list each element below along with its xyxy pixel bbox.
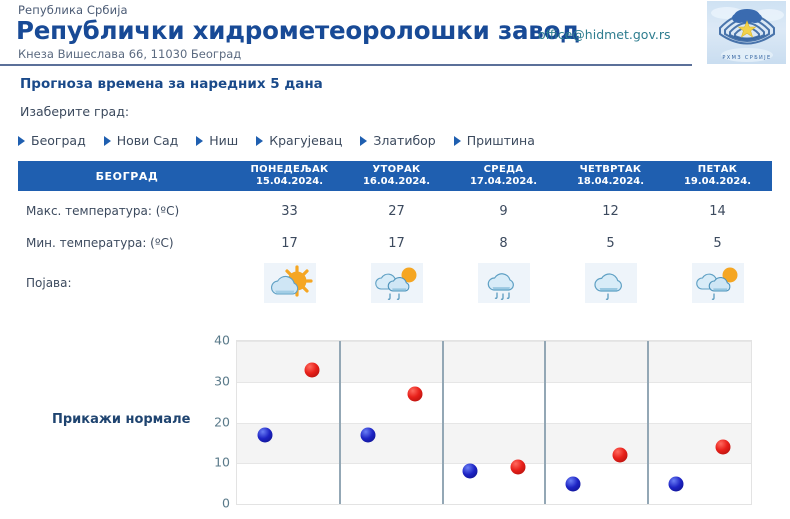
day-date: 18.04.2024. (557, 176, 664, 188)
max-temp-day-4: 12 (557, 204, 664, 219)
row-label-phenomenon: Појава: (18, 276, 236, 290)
chart-day-divider (544, 341, 546, 504)
min-temp-day-1: 17 (236, 236, 343, 251)
rain-drops (712, 294, 714, 299)
table-city-header: БЕОГРАД (18, 170, 236, 183)
y-axis-tick-label: 10 (196, 455, 230, 470)
table-day-header-3: СРЕДА 17.04.2024. (450, 164, 557, 188)
phenomenon-cell-4 (557, 263, 664, 303)
page-title: Прогноза времена за наредних 5 дана (20, 76, 323, 92)
day-date: 17.04.2024. (450, 176, 557, 188)
phenomenon-cell-5 (664, 263, 771, 303)
chart-point-min-temp (360, 427, 375, 442)
chart-point-min-temp (257, 427, 272, 442)
sun-behind-cloud-light-rain-icon (371, 263, 423, 303)
temperature-scatter-chart: 010203040 (196, 330, 756, 519)
chart-point-min-temp (566, 476, 581, 491)
city-label: Златибор (373, 133, 435, 148)
city-selector: Београд Нови Сад Ниш Крагујевац Златибор… (18, 133, 553, 148)
city-label: Крагујевац (269, 133, 342, 148)
day-date: 19.04.2024. (664, 176, 771, 188)
city-link-kragujevac[interactable]: Крагујевац (256, 133, 342, 148)
day-name: ПОНЕДЕЉАК (236, 164, 343, 176)
min-temp-day-3: 8 (450, 236, 557, 251)
min-temp-day-2: 17 (343, 236, 450, 251)
triangle-right-icon (196, 136, 203, 146)
show-normals-link[interactable]: Прикажи нормале (52, 412, 190, 427)
chart-point-max-temp (407, 386, 422, 401)
city-link-nis[interactable]: Ниш (196, 133, 238, 148)
city-label: Нови Сад (117, 133, 179, 148)
forecast-page: Република Србија Републички хидрометеоро… (0, 0, 790, 519)
chart-point-max-temp (716, 439, 731, 454)
chart-point-max-temp (510, 460, 525, 475)
city-link-zlatibor[interactable]: Златибор (360, 133, 435, 148)
triangle-right-icon (360, 136, 367, 146)
sun-behind-cloud-light-rain-svg (371, 263, 423, 303)
rain-drops (606, 294, 608, 299)
day-date: 16.04.2024. (343, 176, 450, 188)
sun-behind-cloud-light-rain-icon (692, 263, 744, 303)
svg-text:РХМЗ СРБИЈЕ: РХМЗ СРБИЈЕ (722, 55, 771, 61)
choose-city-label: Изаберите град: (20, 104, 129, 119)
table-row-phenomenon: Појава: (18, 260, 772, 306)
max-temp-day-5: 14 (664, 204, 771, 219)
chart-band (237, 423, 751, 464)
y-axis-tick-label: 20 (196, 414, 230, 429)
cloud-rain-svg (478, 263, 530, 303)
cloud-rain-icon (478, 263, 530, 303)
table-day-header-5: ПЕТАК 19.04.2024. (664, 164, 771, 188)
chart-gridline (237, 463, 751, 464)
phenomenon-cell-1 (236, 263, 343, 303)
forecast-table-header: БЕОГРАД ПОНЕДЕЉАК 15.04.2024. УТОРАК 16.… (18, 161, 772, 191)
header-divider (0, 64, 692, 66)
chart-point-max-temp (613, 448, 628, 463)
chart-gridline (237, 423, 751, 424)
triangle-right-icon (256, 136, 263, 146)
city-link-pristina[interactable]: Приштина (454, 133, 535, 148)
chart-point-max-temp (305, 362, 320, 377)
max-temp-day-1: 33 (236, 204, 343, 219)
chart-gridline (237, 382, 751, 383)
phenomenon-cell-2 (343, 263, 450, 303)
city-label: Приштина (467, 133, 535, 148)
min-temp-day-5: 5 (664, 236, 771, 251)
day-name: ПЕТАК (664, 164, 771, 176)
max-temp-day-2: 27 (343, 204, 450, 219)
row-label-min-temp: Мин. температура: (ºC) (18, 236, 236, 250)
chart-point-min-temp (463, 464, 478, 479)
rain-drops (495, 293, 509, 299)
triangle-right-icon (104, 136, 111, 146)
chart-day-divider (647, 341, 649, 504)
cloud-glyph (594, 274, 620, 291)
day-name: УТОРАК (343, 164, 450, 176)
y-axis-tick-label: 0 (196, 496, 230, 511)
day-name: СРЕДА (450, 164, 557, 176)
site-address: Кнеза Вишеслава 66, 11030 Београд (18, 47, 241, 61)
day-name: ЧЕТВРТАК (557, 164, 664, 176)
city-label: Београд (31, 133, 86, 148)
day-date: 15.04.2024. (236, 176, 343, 188)
rhmz-emblem-svg: РХМЗ СРБИЈЕ (707, 1, 786, 64)
chart-gridline (237, 341, 751, 342)
y-axis-tick-label: 30 (196, 373, 230, 388)
contact-email-link[interactable]: office@hidmet.gov.rs (538, 27, 671, 42)
table-day-header-1: ПОНЕДЕЉАК 15.04.2024. (236, 164, 343, 188)
chart-day-divider (339, 341, 341, 504)
table-row-max-temp: Макс. температура: (ºC) 33 27 9 12 14 (18, 199, 772, 223)
city-link-beograd[interactable]: Београд (18, 133, 86, 148)
city-link-novi-sad[interactable]: Нови Сад (104, 133, 179, 148)
min-temp-day-4: 5 (557, 236, 664, 251)
chart-point-min-temp (668, 476, 683, 491)
rhmz-logo-icon: РХМЗ СРБИЈЕ (707, 1, 786, 64)
chart-plot-area (236, 340, 752, 505)
phenomenon-cell-3 (450, 263, 557, 303)
triangle-right-icon (454, 136, 461, 146)
table-day-header-4: ЧЕТВРТАК 18.04.2024. (557, 164, 664, 188)
site-title: Републички хидрометеоролошки завод (16, 16, 580, 45)
triangle-right-icon (18, 136, 25, 146)
max-temp-day-3: 9 (450, 204, 557, 219)
republic-kicker: Република Србија (18, 3, 128, 17)
cloud-glyph (488, 274, 513, 290)
chart-day-divider (442, 341, 444, 504)
sun-behind-cloud-light-rain-svg (692, 263, 744, 303)
city-label: Ниш (209, 133, 238, 148)
row-label-max-temp: Макс. температура: (ºC) (18, 204, 236, 218)
y-axis-tick-label: 40 (196, 333, 230, 348)
table-day-header-2: УТОРАК 16.04.2024. (343, 164, 450, 188)
cloud-light-rain-svg (585, 263, 637, 303)
sun-behind-cloud-svg (264, 263, 316, 303)
table-row-min-temp: Мин. температура: (ºC) 17 17 8 5 5 (18, 231, 772, 255)
sun-behind-cloud-icon (264, 263, 316, 303)
cloud-light-rain-icon (585, 263, 637, 303)
rain-drops (388, 294, 399, 299)
